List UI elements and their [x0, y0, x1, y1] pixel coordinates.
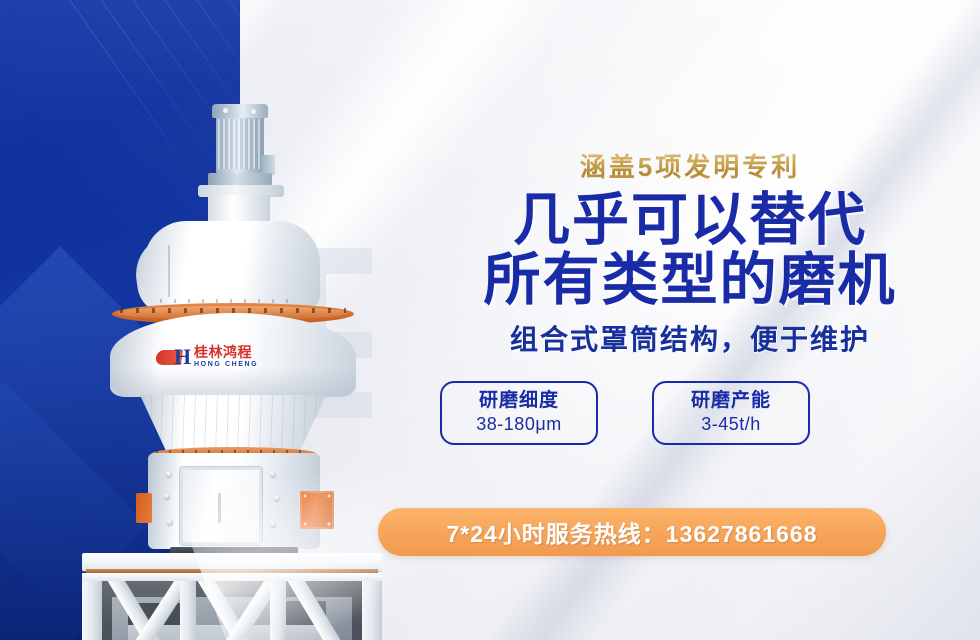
sub-headline: 组合式罩筒结构，便于维护: [400, 322, 980, 358]
logo-english-text: HONG CHENG: [194, 360, 258, 369]
headline: 几乎可以替代 所有类型的磨机: [400, 190, 980, 310]
hotline-button[interactable]: 7*24小时服务热线：13627861668: [378, 508, 886, 556]
cylinder-bolt-5: [274, 495, 280, 501]
frame-post-left: [82, 573, 102, 640]
motor-bolt-1: [223, 108, 228, 113]
cylinder-bolt-3: [167, 519, 173, 525]
badge-title-fineness: 研磨细度: [460, 388, 578, 413]
cylinder-bolt-4: [270, 471, 276, 477]
cylinder-bolt-6: [270, 521, 276, 527]
badge-value-fineness: 38-180μm: [460, 413, 578, 436]
motor-bolt-2: [251, 109, 256, 114]
frame-post-right: [362, 573, 382, 640]
spec-badge-group: 研磨细度 38-180μm 研磨产能 3-45t/h: [440, 381, 940, 445]
cylinder-bolt-1: [166, 471, 172, 477]
frame-post-mid-2: [270, 573, 286, 640]
banner-canvas: H 桂林鸿程 HONG CHENG: [0, 0, 980, 640]
brand-logo: H 桂林鸿程 HONG CHENG: [156, 343, 276, 373]
badge-title-capacity: 研磨产能: [672, 388, 790, 413]
logo-chinese-text: 桂林鸿程: [194, 344, 252, 360]
volute-seam: [168, 245, 170, 297]
hotline-text: 7*24小时服务热线：13627861668: [446, 515, 817, 549]
headline-line-1: 几乎可以替代: [513, 188, 867, 252]
access-door-handle: [218, 493, 221, 523]
banner-copy-block: 涵盖5项发明专利 几乎可以替代 所有类型的磨机 组合式罩筒结构，便于维护 研磨细…: [400, 0, 980, 640]
hatch-bolts: [302, 493, 332, 527]
mill-volute-housing: [144, 221, 320, 309]
cylinder-bolt-2: [164, 493, 170, 499]
motor-cooling-fins: [218, 119, 262, 169]
cone-rib-lines: [140, 395, 326, 451]
motor-junction-box: [261, 155, 275, 175]
spec-badge-capacity: 研磨产能 3-45t/h: [652, 381, 810, 445]
motor-cap: [212, 104, 268, 118]
frame-top-rail: [82, 573, 382, 581]
grinding-mill-product-image: H 桂林鸿程 HONG CHENG: [48, 95, 378, 640]
frame-post-mid-1: [180, 573, 196, 640]
badge-value-capacity: 3-45t/h: [672, 413, 790, 436]
access-door-panel: [180, 467, 262, 545]
spec-badge-fineness: 研磨细度 38-180μm: [440, 381, 598, 445]
left-orange-port: [136, 493, 152, 523]
logo-letter-mark: H: [174, 345, 191, 369]
headline-line-2: 所有类型的磨机: [400, 250, 980, 310]
patent-eyebrow-text: 涵盖5项发明专利: [400, 150, 980, 184]
steel-support-frame: [82, 573, 382, 640]
